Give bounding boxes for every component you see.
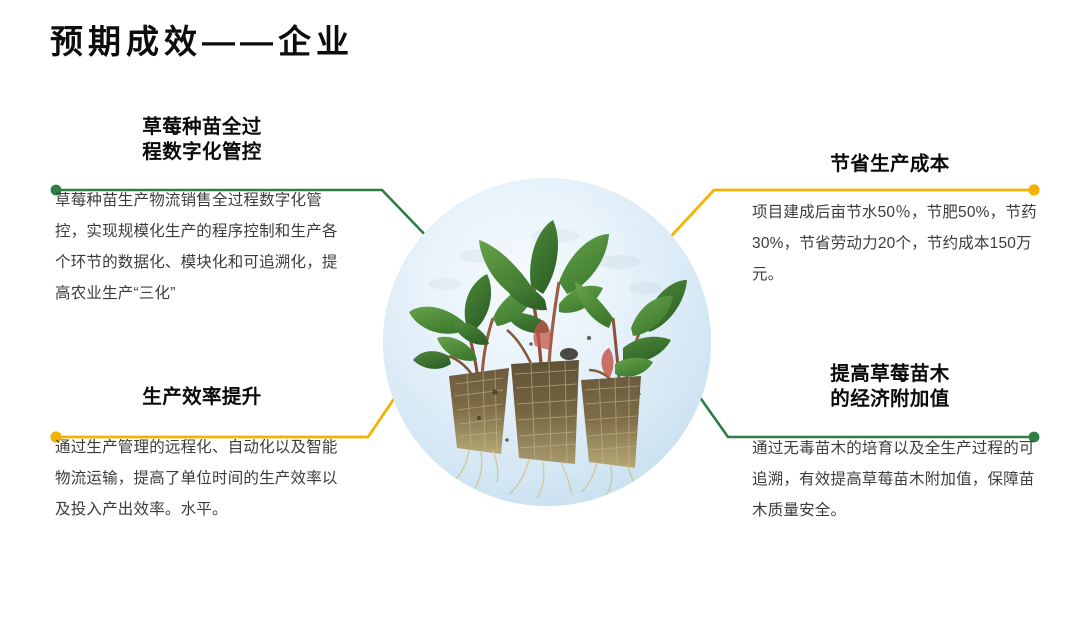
info-block-top-left-body: 草莓种苗生产物流销售全过程数字化管控，实现规模化生产的程序控制和生产各个环节的数… bbox=[52, 185, 349, 309]
info-block-top-right-body: 项目建成后亩节水50％，节肥50%，节药30%，节省劳动力20个，节约成本150… bbox=[740, 197, 1040, 290]
page-title: 预期成效——企业 bbox=[50, 20, 354, 65]
info-block-top-right-heading: 节省生产成本 bbox=[740, 152, 1040, 177]
center-photo-strawberry-seedlings bbox=[383, 178, 711, 506]
info-block-top-right: 节省生产成本 项目建成后亩节水50％，节肥50%，节药30%，节省劳动力20个，… bbox=[740, 152, 1040, 290]
info-block-top-left-heading: 草莓种苗全过 程数字化管控 bbox=[52, 115, 352, 165]
strawberry-seedlings-illustration bbox=[383, 178, 711, 506]
info-block-bottom-right: 提高草莓苗木 的经济附加值 通过无毒苗木的培育以及全生产过程的可追溯，有效提高草… bbox=[740, 362, 1040, 526]
info-block-bottom-left: 生产效率提升 通过生产管理的远程化、自动化以及智能物流运输，提高了单位时间的生产… bbox=[52, 385, 352, 525]
info-block-bottom-right-body: 通过无毒苗木的培育以及全生产过程的可追溯，有效提高草莓苗木附加值，保障苗木质量安… bbox=[740, 433, 1040, 526]
slide-canvas: 预期成效——企业 bbox=[0, 0, 1080, 624]
info-block-bottom-left-heading: 生产效率提升 bbox=[52, 385, 352, 410]
info-block-bottom-right-heading: 提高草莓苗木 的经济附加值 bbox=[740, 362, 1040, 412]
info-block-bottom-left-body: 通过生产管理的远程化、自动化以及智能物流运输，提高了单位时间的生产效率以及投入产… bbox=[52, 432, 349, 525]
info-block-top-left: 草莓种苗全过 程数字化管控 草莓种苗生产物流销售全过程数字化管控，实现规模化生产… bbox=[52, 115, 352, 309]
